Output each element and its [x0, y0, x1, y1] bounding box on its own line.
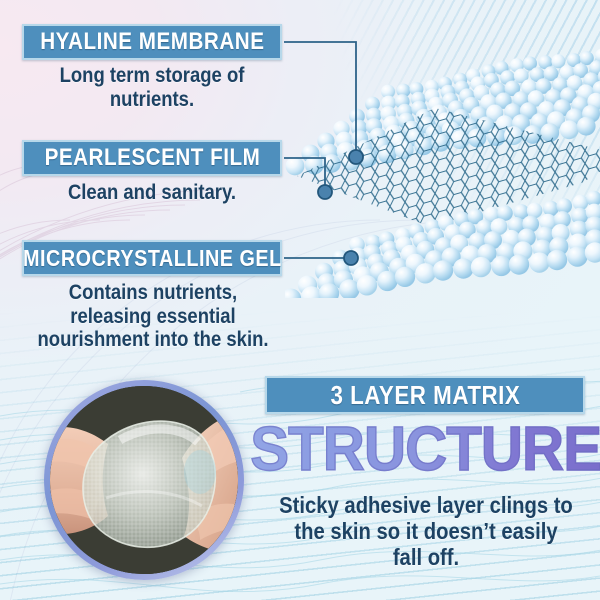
matrix-sphere	[471, 257, 491, 277]
banner-microcrystalline-gel-label: MICROCRYSTALLINE GEL	[23, 245, 282, 272]
molecular-matrix-illustration	[285, 48, 600, 298]
matrix-sphere	[395, 267, 415, 287]
matrix-sphere	[357, 275, 377, 295]
matrix-sphere	[509, 254, 529, 274]
matrix-sphere	[567, 246, 587, 266]
banner-pearlescent-film-label: PEARLESCENT FILM	[44, 144, 260, 172]
matrix-sphere	[377, 271, 397, 291]
matrix-sphere	[529, 252, 549, 272]
description-pearlescent-film: Clean and sanitary.	[22, 181, 282, 205]
matrix-sphere	[433, 260, 453, 280]
description-microcrystalline-gel: Contains nutrients, releasing essential …	[18, 281, 288, 352]
matrix-sphere	[577, 117, 596, 136]
matrix-sphere	[415, 263, 435, 283]
banner-three-layer-matrix[interactable]: 3 LAYER MATRIX	[265, 376, 585, 414]
banner-three-layer-matrix-label: 3 LAYER MATRIX	[330, 380, 520, 411]
structure-wordmark: STRUCTURE	[258, 418, 594, 480]
banner-microcrystalline-gel[interactable]: MICROCRYSTALLINE GEL	[22, 240, 282, 276]
banner-hyaline-membrane-label: HYALINE MEMBRANE	[40, 28, 264, 56]
matrix-sphere	[491, 256, 511, 276]
matrix-sphere	[560, 120, 579, 139]
matrix-sphere	[595, 48, 600, 62]
banner-hyaline-membrane[interactable]: HYALINE MEMBRANE	[22, 24, 282, 60]
photo-hands-stretching-gel-sheet	[50, 386, 238, 574]
description-hyaline-membrane: Long term storage of nutrients.	[22, 64, 282, 111]
matrix-sphere	[547, 250, 567, 270]
description-structure: Sticky adhesive layer clings to the skin…	[258, 492, 594, 571]
matrix-sphere	[453, 258, 473, 278]
infographic-canvas: HYALINE MEMBRANE Long term storage of nu…	[0, 0, 600, 600]
matrix-sphere	[286, 157, 305, 176]
structure-wordmark-text: STRUCTURE	[251, 414, 600, 485]
banner-pearlescent-film[interactable]: PEARLESCENT FILM	[22, 140, 282, 176]
